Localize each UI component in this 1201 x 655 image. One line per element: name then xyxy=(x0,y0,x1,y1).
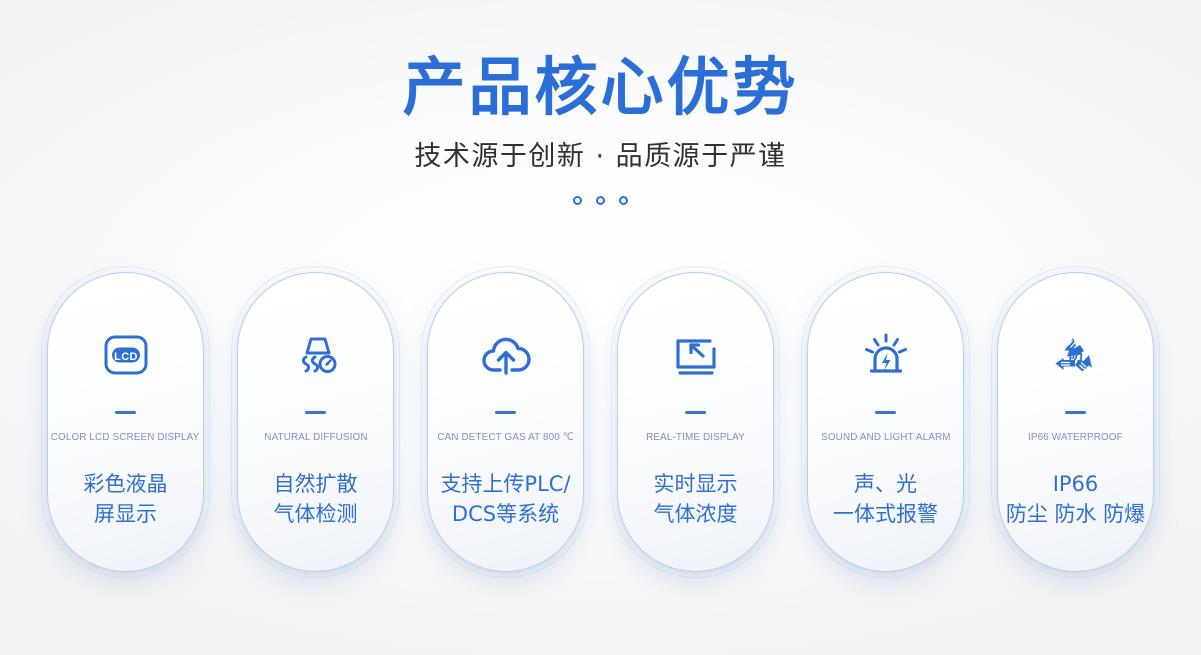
protection-recycle-icon: 防 xyxy=(1047,327,1105,383)
lcd-screen-icon: LCD xyxy=(98,327,154,383)
lcd-icon-label: LCD xyxy=(114,351,138,363)
monitor-display-icon xyxy=(666,327,726,383)
feature-card-sound-light-alarm[interactable]: SOUND AND LIGHT ALARM 声、光 一体式报警 xyxy=(807,272,964,572)
card-title: 支持上传PLC/ DCS等系统 xyxy=(440,470,570,530)
card-divider xyxy=(875,411,896,414)
protection-icon-label: 防 xyxy=(1068,346,1083,364)
card-title: IP66 防尘 防水 防爆 xyxy=(1006,470,1145,530)
feature-card-natural-diffusion[interactable]: NATURAL DIFFUSION 自然扩散 气体检测 xyxy=(237,272,394,572)
card-title: 自然扩散 气体检测 xyxy=(274,470,358,530)
feature-card-lcd-display[interactable]: LCD COLOR LCD SCREEN DISPLAY 彩色液晶 屏显示 xyxy=(47,272,204,572)
feature-card-realtime-display[interactable]: REAL-TIME DISPLAY 实时显示 气体浓度 xyxy=(617,272,774,572)
page-header: 产品核心优势 技术源于创新 · 品质源于严谨 xyxy=(0,0,1201,205)
card-caption: CAN DETECT GAS AT 800 ℃ xyxy=(437,431,574,443)
cloud-upload-icon xyxy=(477,327,535,383)
decorative-dots xyxy=(0,174,1201,205)
product-advantages-page: 产品核心优势 技术源于创新 · 品质源于严谨 LCD COLOR LCD SCR… xyxy=(0,0,1201,655)
card-caption: COLOR LCD SCREEN DISPLAY xyxy=(51,431,200,443)
dot-icon xyxy=(573,196,582,205)
card-title: 实时显示 气体浓度 xyxy=(654,470,738,530)
card-title: 声、光 一体式报警 xyxy=(833,470,938,530)
card-divider xyxy=(685,411,706,414)
card-divider xyxy=(305,411,326,414)
card-divider xyxy=(115,411,136,414)
dot-icon xyxy=(596,196,605,205)
feature-card-list: LCD COLOR LCD SCREEN DISPLAY 彩色液晶 屏显示 xyxy=(0,272,1201,572)
card-caption: NATURAL DIFFUSION xyxy=(264,431,367,443)
card-caption: REAL-TIME DISPLAY xyxy=(646,431,745,443)
card-caption: SOUND AND LIGHT ALARM xyxy=(821,431,950,443)
feature-card-ip66-waterproof[interactable]: 防 IP66 WATERPROOF IP66 防尘 防水 防爆 xyxy=(997,272,1154,572)
card-title: 彩色液晶 屏显示 xyxy=(84,470,168,530)
alarm-beacon-icon xyxy=(857,327,915,383)
dot-icon xyxy=(619,196,628,205)
feature-card-cloud-upload[interactable]: CAN DETECT GAS AT 800 ℃ 支持上传PLC/ DCS等系统 xyxy=(427,272,584,572)
page-title: 产品核心优势 xyxy=(0,0,1201,121)
card-divider xyxy=(495,411,516,414)
card-caption: IP66 WATERPROOF xyxy=(1028,431,1123,443)
card-divider xyxy=(1065,411,1086,414)
page-subtitle: 技术源于创新 · 品质源于严谨 xyxy=(0,121,1201,173)
natural-diffusion-icon xyxy=(288,327,344,383)
